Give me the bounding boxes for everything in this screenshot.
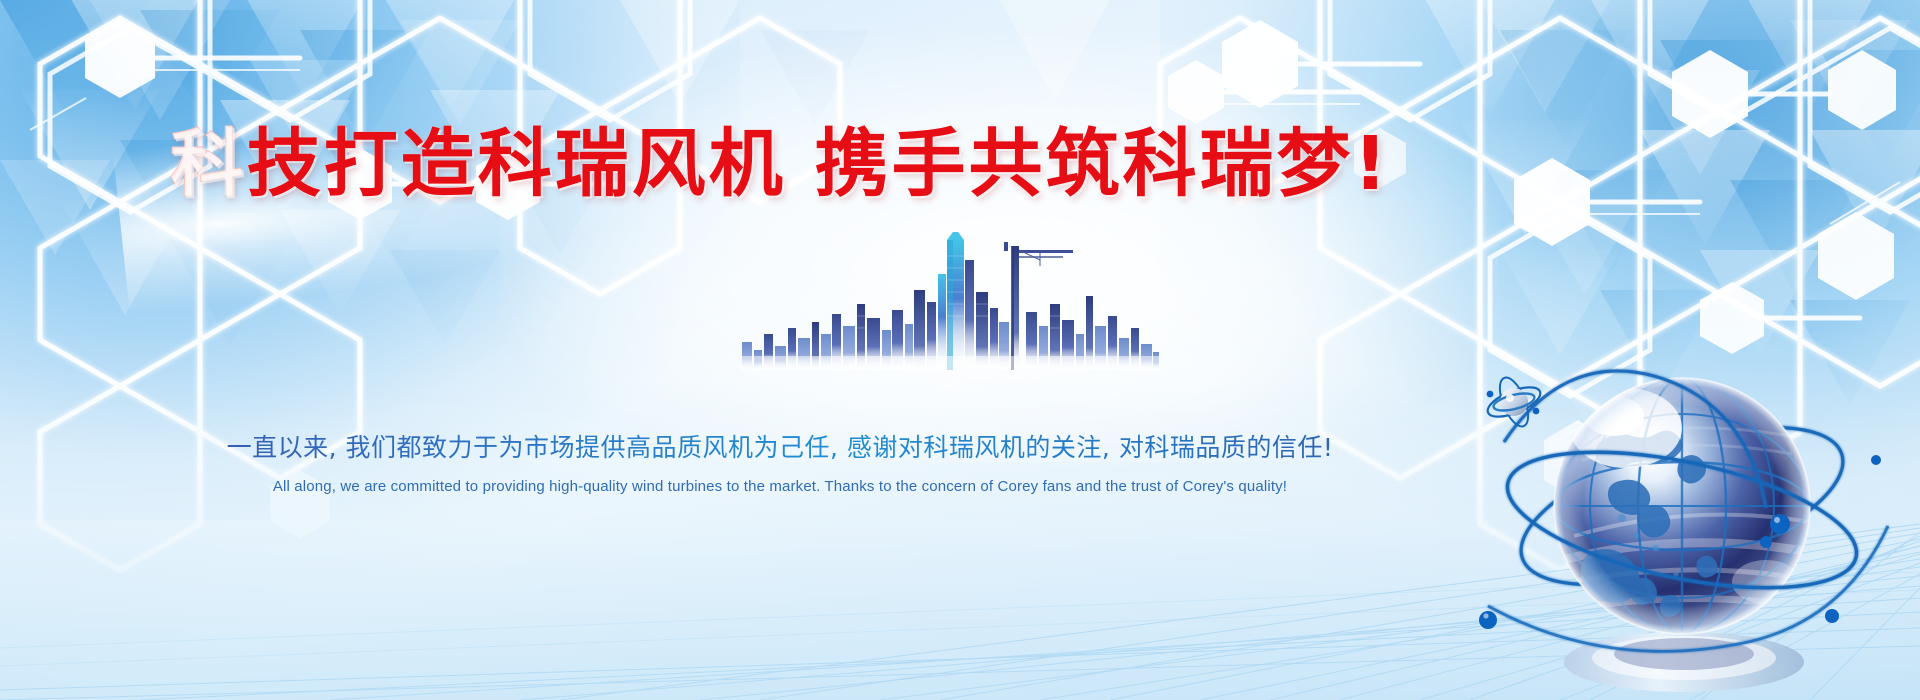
banner-subtitle-english: All along, we are committed to providing… (0, 478, 1560, 495)
banner-headline: 科技打造科瑞风机 携手共筑科瑞梦! (0, 126, 1560, 204)
promotional-banner: 科技打造科瑞风机 携手共筑科瑞梦! 一直以来, 我们都致力于为市场提供高品质风机… (0, 0, 1920, 700)
headline-rest: 技打造科瑞风机 携手共筑科瑞梦! (247, 121, 1391, 207)
banner-subtitle-chinese: 一直以来, 我们都致力于为市场提供高品质风机为己任, 感谢对科瑞风机的关注, 对… (0, 428, 1560, 464)
headline-accent-char: 科 (170, 121, 247, 207)
